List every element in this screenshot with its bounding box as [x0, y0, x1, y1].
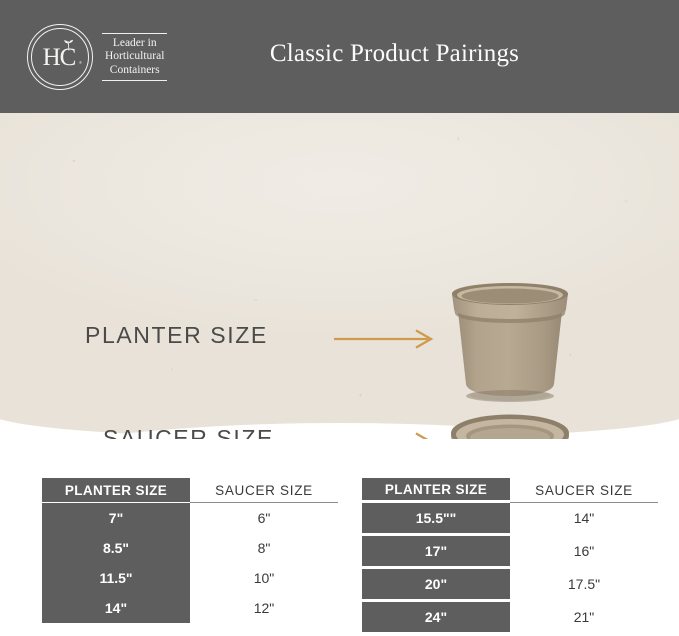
table-row: 20" 17.5" — [362, 569, 658, 599]
cell-saucer-size: 6" — [190, 503, 338, 533]
cell-saucer-size: 16" — [510, 536, 658, 566]
size-chart-table-left: PLANTER SIZE SAUCER SIZE 7" 6" 8.5" 8" 1… — [42, 478, 338, 623]
saucer-illustration — [440, 413, 580, 439]
hero-illustration-section: PLANTER SIZE SAUCER SIZE — [0, 113, 679, 439]
planter-arrow-icon — [332, 328, 440, 350]
column-header-planter-size: PLANTER SIZE — [362, 478, 510, 500]
cell-planter-size: 14" — [42, 593, 190, 623]
cell-planter-size: 17" — [362, 536, 510, 566]
cell-planter-size: 11.5" — [42, 563, 190, 593]
product-pairing-infographic: HC ® Leader in Horticultural Containers … — [0, 0, 679, 636]
planter-pot-illustration — [440, 281, 580, 403]
cell-saucer-size: 8" — [190, 533, 338, 563]
table-row: 11.5" 10" — [42, 563, 338, 593]
table-body: 7" 6" 8.5" 8" 11.5" 10" 14" 12" — [42, 503, 338, 623]
cell-saucer-size: 14" — [510, 503, 658, 533]
cell-saucer-size: 12" — [190, 593, 338, 623]
table-row: 7" 6" — [42, 503, 338, 533]
table-row: 17" 16" — [362, 536, 658, 566]
table-row: 14" 12" — [42, 593, 338, 623]
cell-planter-size: 15.5"" — [362, 503, 510, 533]
saucer-arrow-icon — [332, 431, 440, 439]
planter-size-label: PLANTER SIZE — [85, 322, 268, 349]
column-header-saucer-size: SAUCER SIZE — [510, 478, 658, 503]
saucer-size-label: SAUCER SIZE — [103, 425, 274, 439]
table-header-row: PLANTER SIZE SAUCER SIZE — [362, 478, 658, 503]
cell-planter-size: 20" — [362, 569, 510, 599]
cell-planter-size: 8.5" — [42, 533, 190, 563]
table-row: 15.5"" 14" — [362, 503, 658, 533]
cell-saucer-size: 21" — [510, 602, 658, 632]
table-row: 8.5" 8" — [42, 533, 338, 563]
size-chart-table-right: PLANTER SIZE SAUCER SIZE 15.5"" 14" 17" … — [362, 478, 658, 635]
cell-planter-size: 7" — [42, 503, 190, 533]
table-row: 24" 21" — [362, 602, 658, 632]
table-header-row: PLANTER SIZE SAUCER SIZE — [42, 478, 338, 503]
table-body: 15.5"" 14" 17" 16" 20" 17.5" 24" 21" — [362, 503, 658, 632]
column-header-planter-size: PLANTER SIZE — [42, 478, 190, 503]
page-title: Classic Product Pairings — [0, 40, 679, 68]
cell-saucer-size: 17.5" — [510, 569, 658, 599]
cell-planter-size: 24" — [362, 602, 510, 632]
column-header-saucer-size: SAUCER SIZE — [190, 478, 338, 503]
header-bar: HC ® Leader in Horticultural Containers … — [0, 0, 679, 113]
cell-saucer-size: 10" — [190, 563, 338, 593]
